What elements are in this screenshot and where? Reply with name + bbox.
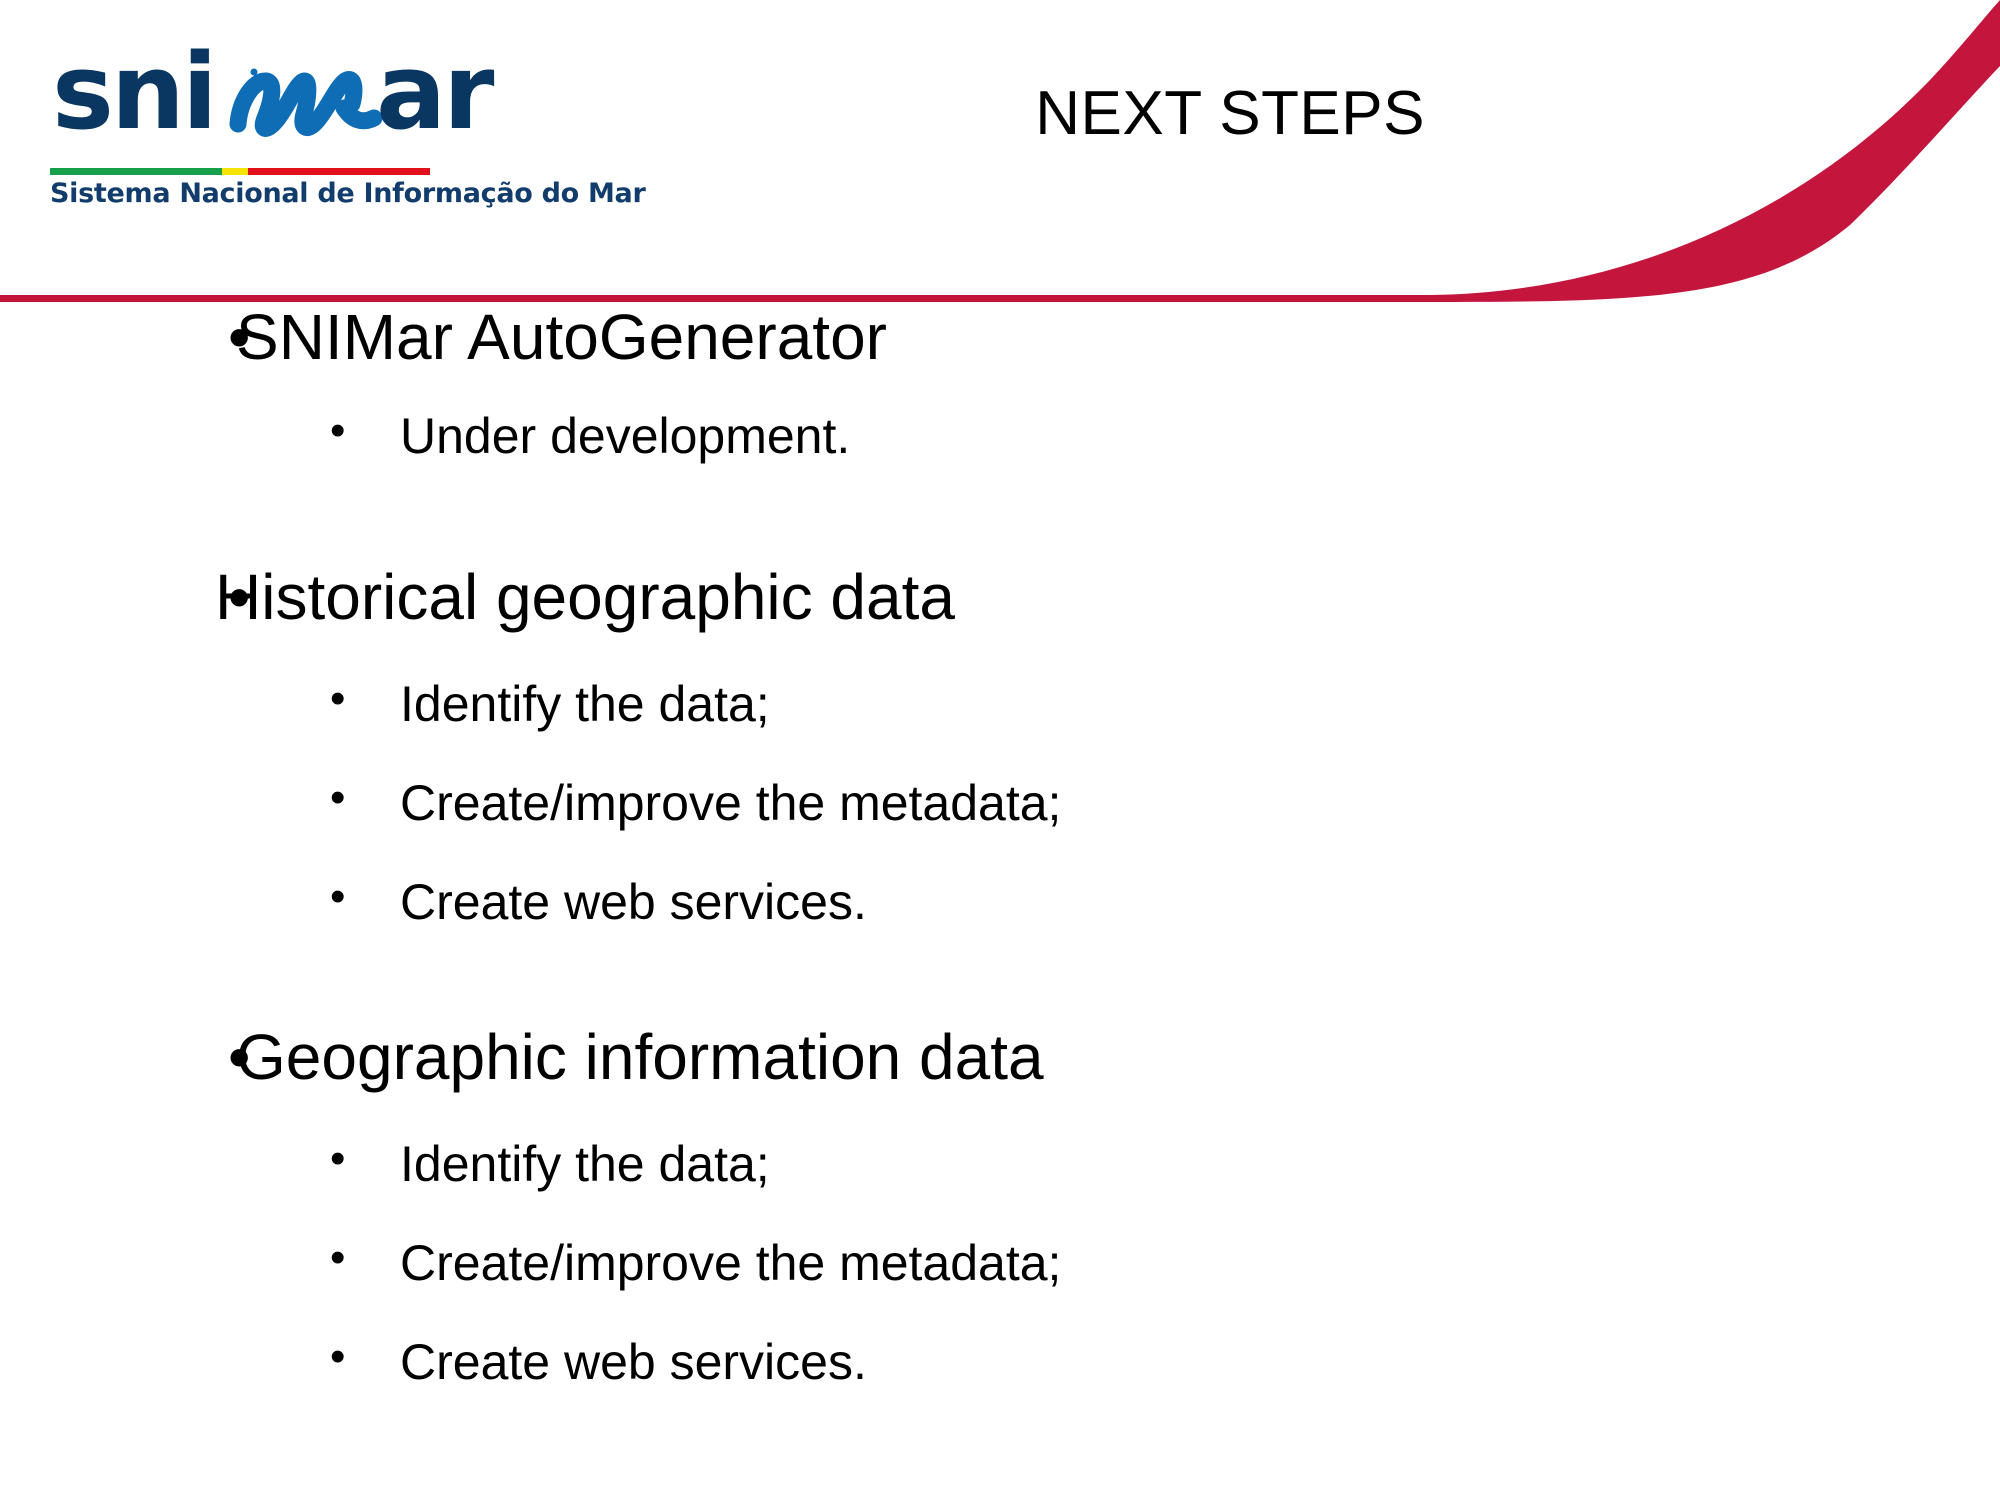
bullet-level1: • Geographic information data <box>0 1025 1044 1090</box>
bullet-dot-icon: • <box>330 775 345 821</box>
bullet-level1: • SNIMar AutoGenerator <box>0 305 887 370</box>
bullet-dot-icon: • <box>228 305 268 370</box>
bullet-level2: • Identify the data; <box>0 678 770 731</box>
bullet-level2-label: Identify the data; <box>400 676 770 732</box>
bullet-level2: • Create web services. <box>0 876 867 929</box>
bullet-level2: • Create/improve the metadata; <box>0 777 1061 830</box>
bullet-level1-label: SNIMar AutoGenerator <box>236 301 887 373</box>
bullet-dot-icon: • <box>330 408 345 454</box>
bullet-dot-icon: • <box>330 1334 345 1380</box>
bullet-group-3-item-3: • Create web services. <box>0 1336 867 1389</box>
snimar-logo: sni ar Sistema Nacional de Informação do… <box>44 38 464 218</box>
bullet-group-2: • Historical geographic data <box>0 565 955 630</box>
bullet-level2-label: Create/improve the metadata; <box>400 775 1061 831</box>
logo-text-ar: ar <box>376 40 491 144</box>
bullet-group-2-item-2: • Create/improve the metadata; <box>0 777 1061 830</box>
logo-tagline: Sistema Nacional de Informação do Mar <box>50 178 646 209</box>
logo-bar-red <box>248 168 430 175</box>
bullet-dot-icon: • <box>228 1025 268 1090</box>
logo-text-sni: sni <box>52 40 215 144</box>
bullet-group-1-item-1: • Under development. <box>0 410 850 463</box>
bullet-dot-icon: • <box>330 676 345 722</box>
logo-script-m-icon <box>224 48 384 148</box>
bullet-dot-icon: • <box>228 565 268 630</box>
bullet-level2-label: Identify the data; <box>400 1136 770 1192</box>
bullet-level2-label: Create web services. <box>400 874 867 930</box>
bullet-level2: • Under development. <box>0 410 850 463</box>
bullet-group-3-item-2: • Create/improve the metadata; <box>0 1237 1061 1290</box>
bullet-dot-icon: • <box>330 1136 345 1182</box>
slide-canvas: sni ar Sistema Nacional de Informação do… <box>0 0 2000 1500</box>
bullet-level2: • Create web services. <box>0 1336 867 1389</box>
bullet-group-1: • SNIMar AutoGenerator <box>0 305 887 370</box>
bullet-level2-label: Create/improve the metadata; <box>400 1235 1061 1291</box>
bullet-group-3: • Geographic information data <box>0 1025 1044 1090</box>
bullet-dot-icon: • <box>330 874 345 920</box>
logo-wordmark: sni ar <box>44 38 464 163</box>
slide-header: sni ar Sistema Nacional de Informação do… <box>0 0 2000 305</box>
bullet-level1-label: Geographic information data <box>236 1021 1044 1093</box>
page-title: NEXT STEPS <box>1035 78 1425 149</box>
bullet-level2: • Create/improve the metadata; <box>0 1237 1061 1290</box>
bullet-group-3-item-1: • Identify the data; <box>0 1138 770 1191</box>
bullet-level2-label: Create web services. <box>400 1334 867 1390</box>
bullet-level2: • Identify the data; <box>0 1138 770 1191</box>
bullet-level1: • Historical geographic data <box>0 565 955 630</box>
logo-color-bar <box>50 168 430 175</box>
bullet-group-2-item-3: • Create web services. <box>0 876 867 929</box>
bullet-group-2-item-1: • Identify the data; <box>0 678 770 731</box>
slide-body: • SNIMar AutoGenerator • Under developme… <box>0 305 2000 1500</box>
logo-bar-green <box>50 168 222 175</box>
bullet-level2-label: Under development. <box>400 408 850 464</box>
bullet-level1-label: Historical geographic data <box>215 561 955 633</box>
logo-bar-yellow <box>222 168 248 175</box>
bullet-dot-icon: • <box>330 1235 345 1281</box>
